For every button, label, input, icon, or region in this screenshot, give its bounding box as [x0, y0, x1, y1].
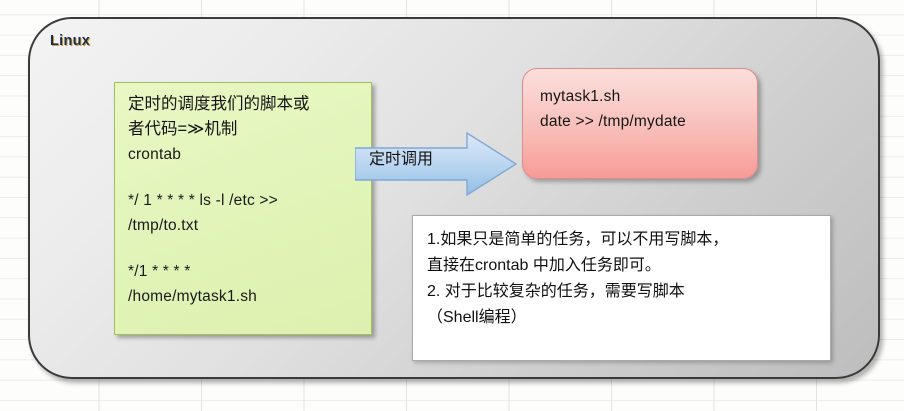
green-note-line-6: /tmp/to.txt: [128, 213, 363, 238]
green-note-line-2: 者代码=≫机制: [128, 117, 363, 142]
pink-note-box[interactable]: mytask1.sh date >> /tmp/mydate: [522, 68, 758, 179]
white-note-box[interactable]: 1.如果只是简单的任务，可以不用写脚本， 直接在crontab 中加入任务即可。…: [412, 215, 831, 361]
white-note-line-4: （Shell编程）: [427, 305, 822, 331]
arrow-label: 定时调用: [369, 149, 433, 171]
scheduled-call-arrow[interactable]: 定时调用: [355, 131, 518, 197]
white-note-line-1: 1.如果只是简单的任务，可以不用写脚本，: [427, 227, 822, 253]
green-note-line-1: 定时的调度我们的脚本或: [128, 92, 363, 117]
pink-note-line-2: date >> /tmp/mydate: [540, 109, 757, 134]
linux-container-label: Linux: [50, 33, 90, 49]
green-note-line-5: */ 1 * * * * ls -l /etc >>: [128, 188, 363, 213]
diagram-canvas: Linux 定时的调度我们的脚本或 者代码=≫机制 crontab */ 1 *…: [0, 0, 904, 411]
pink-note-line-1: mytask1.sh: [540, 84, 757, 109]
green-note-spacer-2: [128, 238, 363, 259]
green-note-line-9: /home/mytask1.sh: [128, 284, 363, 309]
green-note-spacer-1: [128, 167, 363, 188]
green-note-line-3: crontab: [128, 142, 363, 167]
white-note-line-2: 直接在crontab 中加入任务即可。: [427, 253, 822, 279]
green-note-box[interactable]: 定时的调度我们的脚本或 者代码=≫机制 crontab */ 1 * * * *…: [114, 82, 372, 335]
white-note-line-3: 2. 对于比较复杂的任务，需要写脚本: [427, 279, 822, 305]
green-note-line-8: */1 * * * *: [128, 259, 363, 284]
